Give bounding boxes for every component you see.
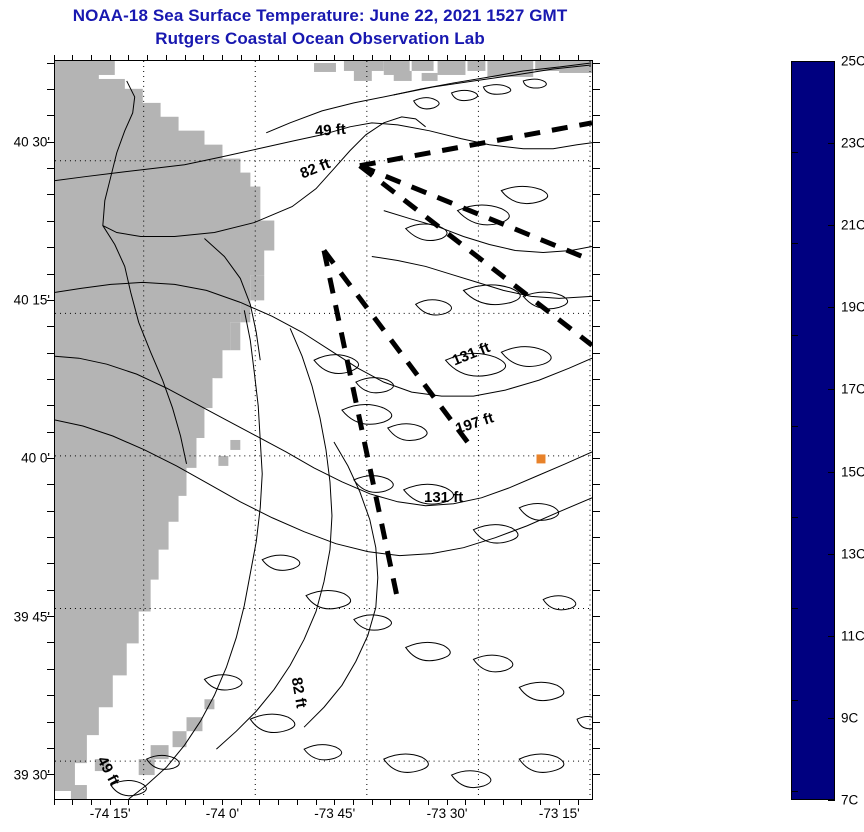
- y-tick: [593, 221, 600, 222]
- y-tick: [593, 774, 600, 775]
- y-tick: [593, 326, 600, 327]
- y-tick: [593, 353, 600, 354]
- y-tick: [593, 748, 600, 749]
- y-tick: [593, 537, 600, 538]
- y-tick: [593, 511, 600, 512]
- y-axis-label-1: 40 15': [14, 293, 50, 308]
- x-axis-label-3: -73 30': [427, 806, 468, 821]
- y-tick: [593, 563, 600, 564]
- x-axis-label-1: -74 0': [206, 806, 239, 821]
- y-axis-label-4: 39 30': [14, 767, 50, 782]
- x-axis-label-0: -74 15': [90, 806, 131, 821]
- y-tick: [593, 379, 600, 380]
- x-axis-label-2: -73 45': [314, 806, 355, 821]
- y-tick: [593, 458, 600, 459]
- y-axis-label-0: 40 30': [14, 135, 50, 150]
- colorbar[interactable]: [791, 61, 835, 800]
- y-tick: [593, 115, 600, 116]
- y-axis-label-2: 40 0': [21, 451, 50, 466]
- y-tick: [593, 142, 600, 143]
- y-tick: [593, 405, 600, 406]
- y-axis-labels: 40 30'40 15'40 0'39 45'39 30': [0, 0, 50, 832]
- y-tick: [593, 274, 600, 275]
- y-tick: [593, 247, 600, 248]
- y-axis-label-3: 39 45': [14, 609, 50, 624]
- y-tick: [593, 590, 600, 591]
- y-tick: [593, 642, 600, 643]
- colorbar-gradient: [792, 62, 834, 799]
- y-tick: [593, 89, 600, 90]
- y-tick: [593, 616, 600, 617]
- y-tick: [593, 63, 600, 64]
- x-axis-label-4: -73 15': [539, 806, 580, 821]
- y-axis-ticks: [0, 0, 864, 832]
- y-tick: [593, 300, 600, 301]
- y-tick: [593, 695, 600, 696]
- y-tick: [593, 168, 600, 169]
- y-tick: [593, 722, 600, 723]
- y-tick: [593, 194, 600, 195]
- y-tick: [593, 669, 600, 670]
- y-tick: [593, 484, 600, 485]
- y-tick: [593, 432, 600, 433]
